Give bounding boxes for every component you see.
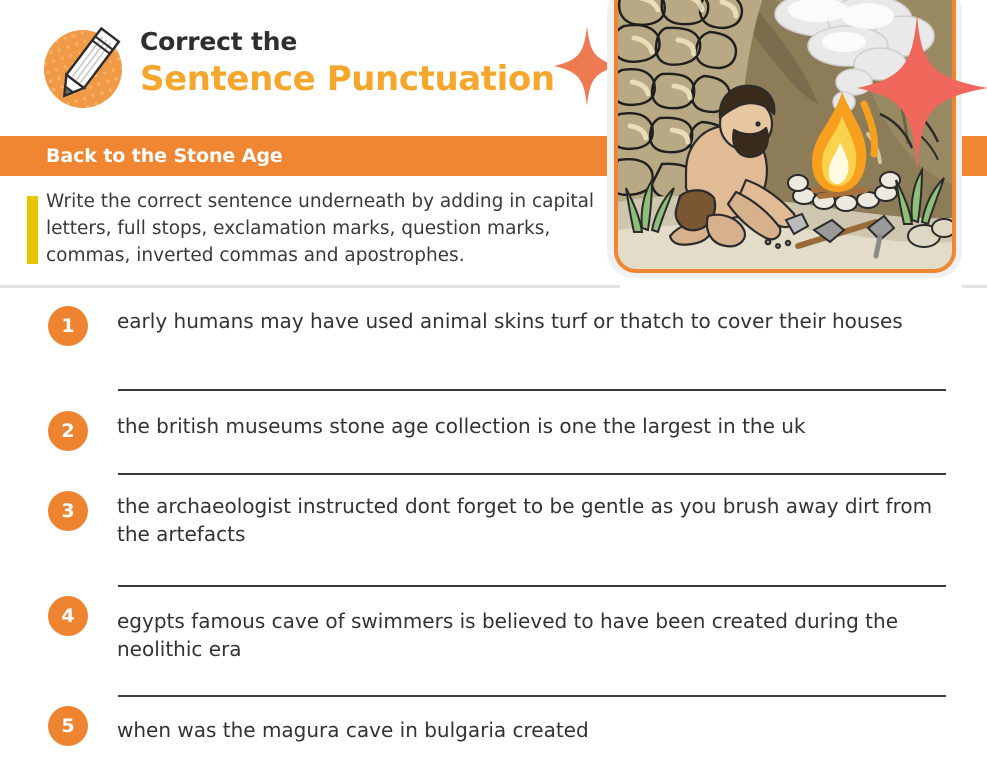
pencil-glyph bbox=[38, 22, 130, 114]
stone-age-cave-illustration bbox=[614, 0, 956, 273]
instruction-accent-bar bbox=[27, 196, 38, 264]
question-number-1: 1 bbox=[48, 306, 88, 346]
title-line-2: Sentence Punctuation bbox=[140, 59, 555, 99]
worksheet-header: Correct the Sentence Punctuation bbox=[0, 0, 620, 136]
header-divider-right bbox=[962, 285, 987, 288]
section-heading: Back to the Stone Age bbox=[46, 145, 283, 167]
pencil-icon bbox=[38, 22, 130, 114]
answer-line-3[interactable] bbox=[118, 585, 946, 587]
question-text-3: the archaeologist instructed dont forget… bbox=[117, 492, 962, 548]
answer-line-1[interactable] bbox=[118, 389, 946, 391]
question-text-2: the british museums stone age collection… bbox=[117, 412, 962, 440]
page-title: Correct the Sentence Punctuation bbox=[140, 28, 555, 99]
question-number-3: 3 bbox=[48, 491, 88, 531]
instruction-text: Write the correct sentence underneath by… bbox=[46, 188, 611, 269]
title-line-1: Correct the bbox=[140, 28, 555, 57]
answer-line-4[interactable] bbox=[118, 695, 946, 697]
header-divider bbox=[0, 285, 620, 288]
question-number-4: 4 bbox=[48, 596, 88, 636]
question-number-2: 2 bbox=[48, 411, 88, 451]
question-text-4: egypts famous cave of swimmers is believ… bbox=[117, 607, 962, 663]
answer-line-2[interactable] bbox=[118, 473, 946, 475]
question-text-1: early humans may have used animal skins … bbox=[117, 307, 962, 335]
question-number-5: 5 bbox=[48, 706, 88, 746]
question-text-5: when was the magura cave in bulgaria cre… bbox=[117, 716, 962, 744]
